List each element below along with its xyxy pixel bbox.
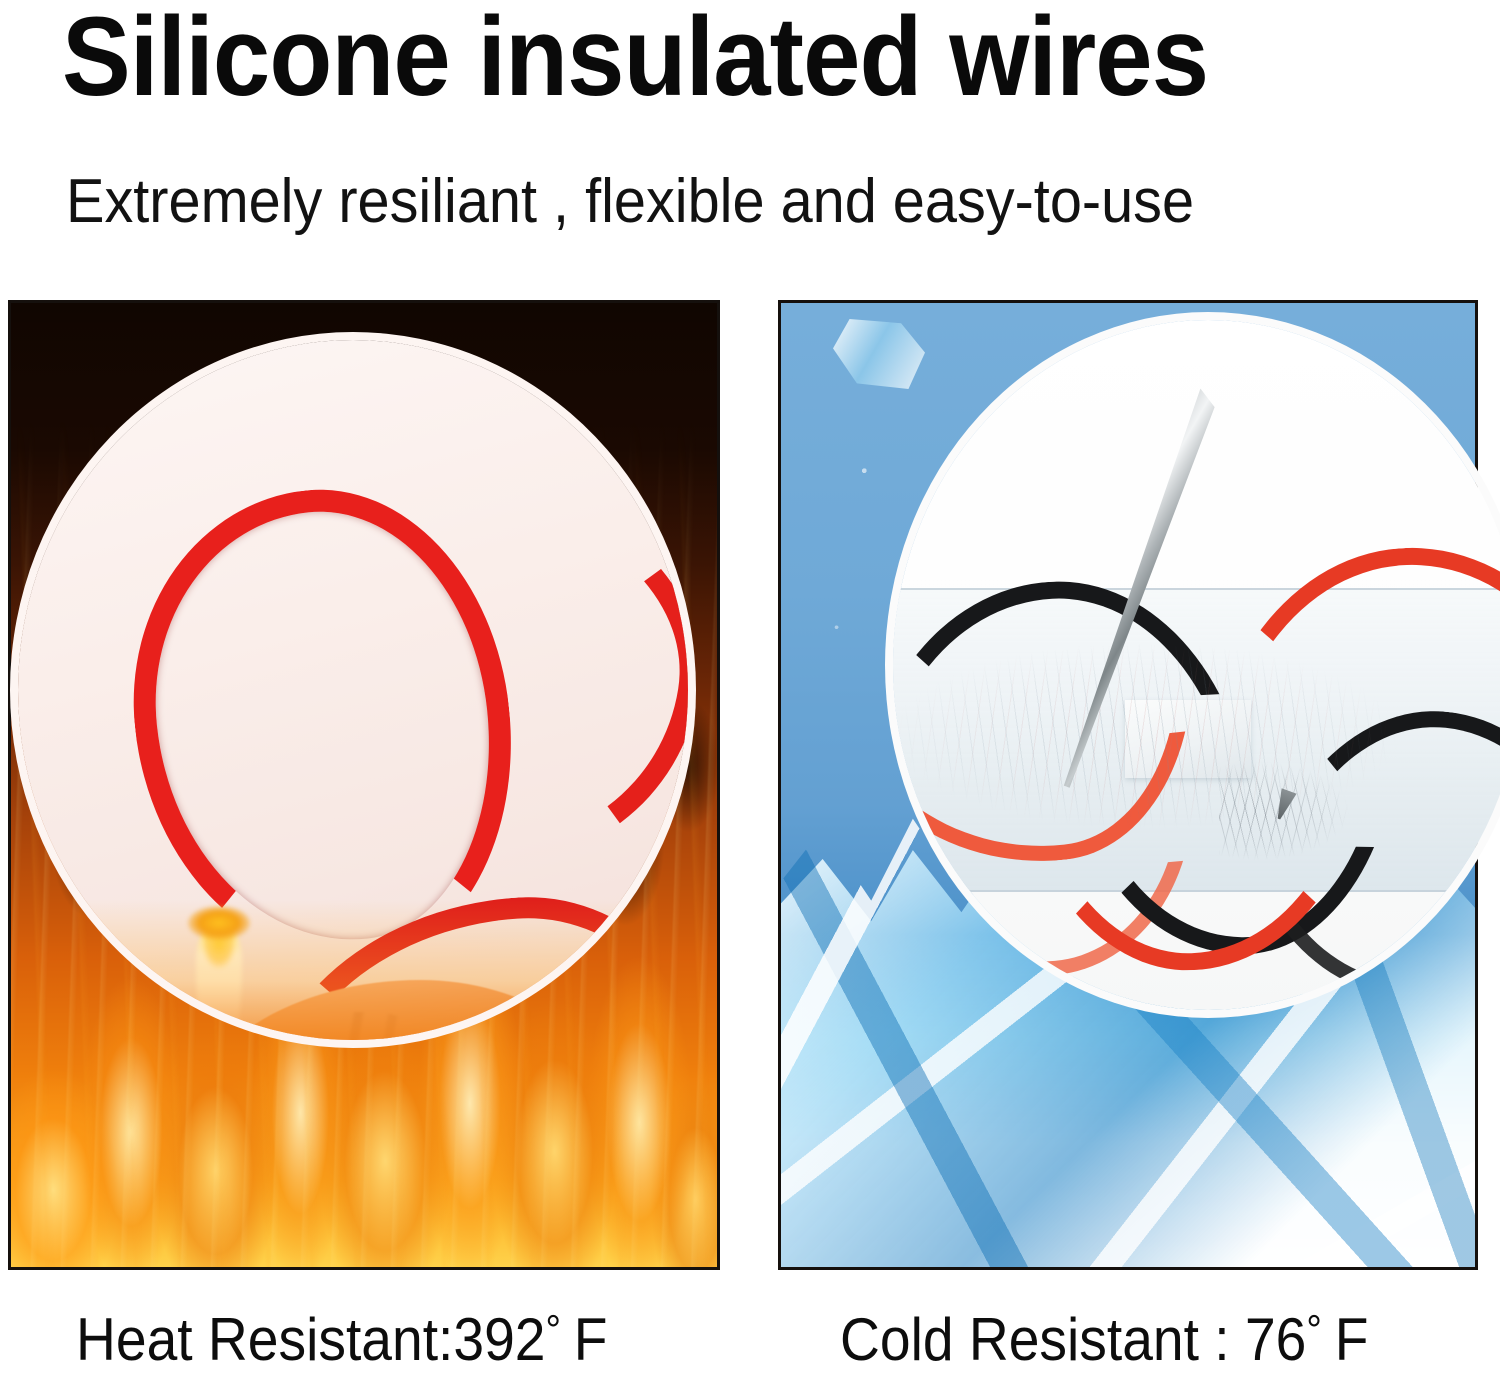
cold-caption-unit: F (1335, 1306, 1369, 1373)
heat-caption-value: 392 (453, 1306, 545, 1373)
wire-heat-glow (188, 906, 250, 940)
page-subtitle: Extremely resiliant , flexible and easy-… (66, 168, 1194, 236)
heat-test-circle-photo (18, 340, 688, 1040)
cold-resistance-caption: Cold Resistant : 76°F (840, 1290, 1368, 1380)
heat-caption-label: Heat Resistant: (76, 1306, 453, 1373)
cold-caption-label: Cold Resistant : (840, 1306, 1245, 1373)
red-wire-segment-right (321, 467, 688, 889)
heat-caption-unit: F (574, 1306, 608, 1373)
page-title: Silicone insulated wires (62, 0, 1208, 116)
header-block: Silicone insulated wires Extremely resil… (0, 0, 1500, 270)
cold-test-circle-photo (893, 320, 1500, 1010)
heat-resistance-caption: Heat Resistant:392°F (76, 1290, 608, 1380)
cold-test-panel (778, 300, 1478, 1270)
heat-degree-symbol: ° (545, 1306, 560, 1353)
cold-degree-symbol: ° (1306, 1306, 1321, 1353)
heat-test-panel (8, 300, 720, 1270)
ice-splash-burst (1219, 756, 1419, 866)
cold-caption-value: 76 (1245, 1306, 1306, 1373)
comparison-panels (0, 300, 1500, 1275)
caption-row: Heat Resistant:392°F Cold Resistant : 76… (0, 1290, 1500, 1384)
